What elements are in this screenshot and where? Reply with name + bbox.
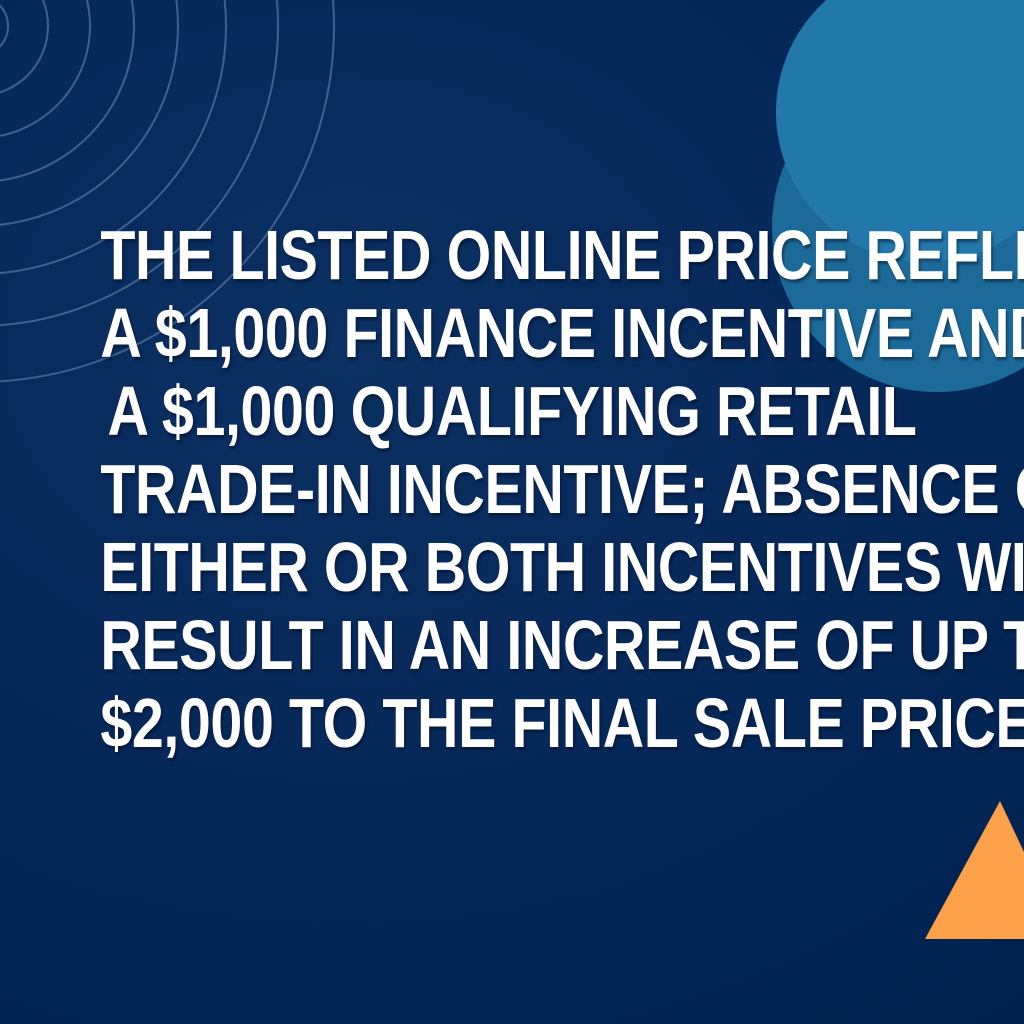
disclaimer-headline: THE LISTED ONLINE PRICE REFLECTS A $1,00… (0, 216, 1024, 762)
headline-line-7: $2,000 TO THE FINAL SALE PRICE. (100, 684, 923, 762)
headline-line-3: A $1,000 QUALIFYING RETAIL (100, 372, 923, 450)
headline-line-1: THE LISTED ONLINE PRICE REFLECTS (100, 216, 923, 294)
headline-line-6: RESULT IN AN INCREASE OF UP TO (100, 606, 923, 684)
headline-line-5: EITHER OR BOTH INCENTIVES WILL (100, 528, 923, 606)
orange-triangle-decoration (925, 801, 1024, 939)
headline-line-4: TRADE-IN INCENTIVE; ABSENCE OF (100, 450, 923, 528)
headline-line-2: A $1,000 FINANCE INCENTIVE AND (100, 294, 923, 372)
disclaimer-graphic-canvas: THE LISTED ONLINE PRICE REFLECTS A $1,00… (0, 0, 1024, 1024)
